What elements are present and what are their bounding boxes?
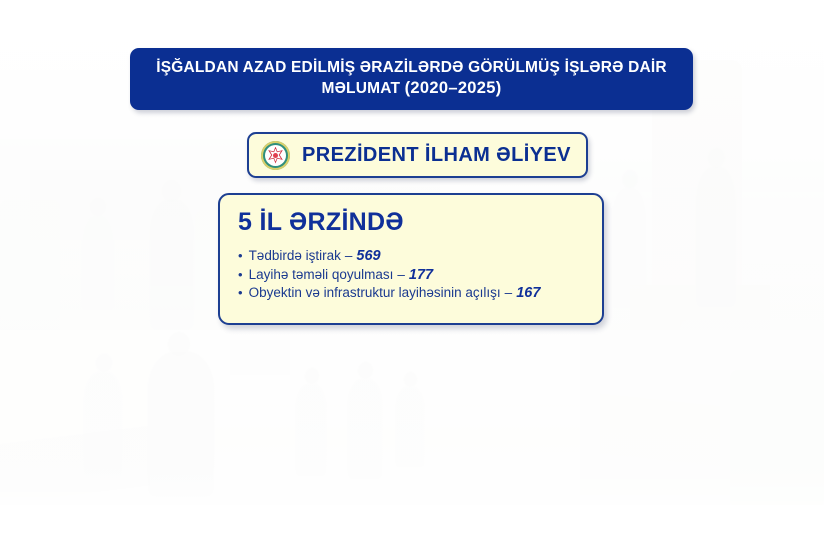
president-name: PREZİDENT İLHAM ƏLİYEV	[302, 144, 571, 167]
azerbaijan-state-emblem-icon	[261, 141, 290, 170]
list-item: • Tədbirdə iştirak – 569	[238, 247, 588, 266]
bullet-glyph: •	[238, 266, 243, 285]
list-item: • Obyektin və infrastruktur layihəsinin …	[238, 284, 588, 303]
stats-panel: 5 İL ƏRZİNDƏ • Tədbirdə iştirak – 569 • …	[218, 193, 604, 325]
stats-item-value: 167	[516, 284, 540, 303]
bottom-white-band	[0, 505, 824, 550]
title-years: (2020–2025)	[405, 79, 502, 97]
stats-item-value: 177	[409, 266, 433, 285]
stats-item-label: Layihə təməli qoyulması	[249, 266, 394, 285]
stats-item-dash: –	[505, 284, 513, 303]
title-line-2: MƏLUMAT (2020–2025)	[144, 78, 679, 99]
bullet-glyph: •	[238, 284, 243, 303]
bullet-glyph: •	[238, 247, 243, 266]
stats-item-dash: –	[397, 266, 405, 285]
list-item: • Layihə təməli qoyulması – 177	[238, 266, 588, 285]
infographic-slide: İŞĞALDAN AZAD EDİLMİŞ ƏRAZİLƏRDƏ GÖRÜLMÜ…	[0, 0, 824, 550]
stats-item-label: Tədbirdə iştirak	[249, 247, 341, 266]
stats-item-value: 569	[356, 247, 380, 266]
stats-item-dash: –	[345, 247, 353, 266]
title-line-2-prefix: MƏLUMAT	[321, 80, 404, 97]
president-banner: PREZİDENT İLHAM ƏLİYEV	[247, 132, 588, 178]
stats-heading: 5 İL ƏRZİNDƏ	[238, 207, 588, 237]
stats-list: • Tədbirdə iştirak – 569 • Layihə təməli…	[238, 247, 588, 303]
title-banner: İŞĞALDAN AZAD EDİLMİŞ ƏRAZİLƏRDƏ GÖRÜLMÜ…	[130, 48, 693, 110]
stats-item-label: Obyektin və infrastruktur layihəsinin aç…	[249, 284, 501, 303]
emblem-center-dot	[273, 153, 278, 158]
title-line-1: İŞĞALDAN AZAD EDİLMİŞ ƏRAZİLƏRDƏ GÖRÜLMÜ…	[144, 57, 679, 78]
